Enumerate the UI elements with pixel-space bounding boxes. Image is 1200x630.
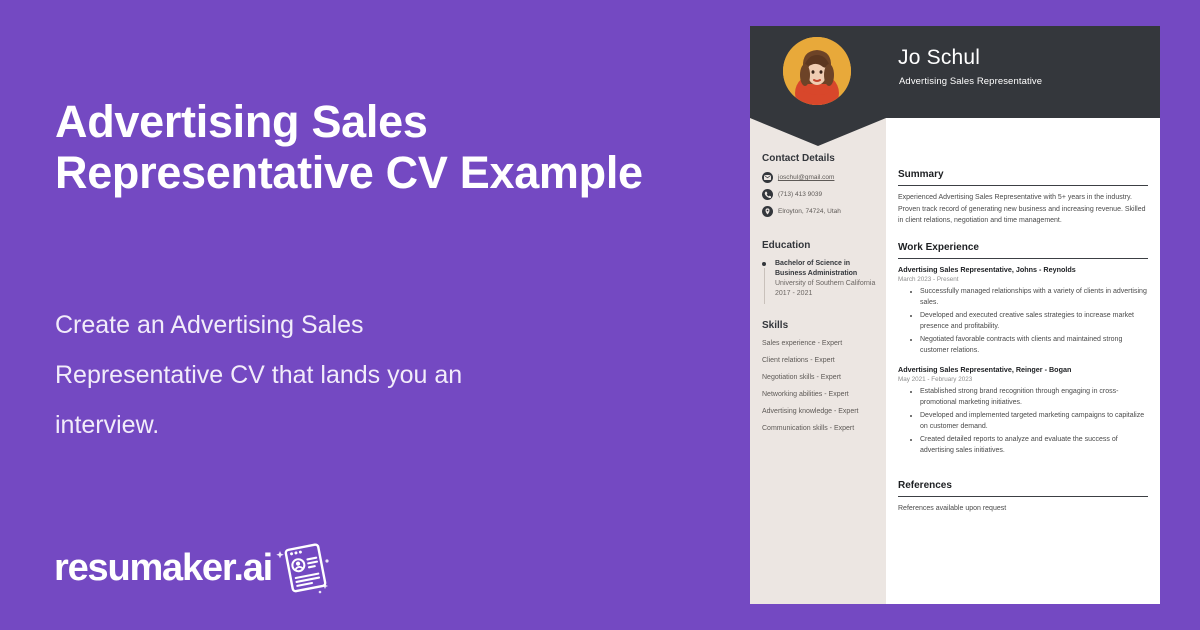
education-school: University of Southern California xyxy=(775,279,880,289)
contact-item-email[interactable]: joschul@gmail.com xyxy=(762,172,880,183)
skill-item: Communication skills - Expert xyxy=(762,424,880,434)
contact-location-text: Elroyton, 74724, Utah xyxy=(778,207,841,216)
timeline-line xyxy=(764,268,765,304)
job-date: May 2021 - February 2023 xyxy=(898,375,1148,384)
summary-heading: Summary xyxy=(898,168,1148,186)
job-bullet: Negotiated favorable contracts with clie… xyxy=(920,334,1148,357)
contact-details-heading: Contact Details xyxy=(762,152,880,165)
skill-item: Networking abilities - Expert xyxy=(762,390,880,400)
resume-card-icon xyxy=(275,541,331,595)
resumaker-logo[interactable]: resumaker.ai xyxy=(54,544,331,592)
promo-canvas: Advertising Sales Representative CV Exam… xyxy=(0,0,1200,630)
references-text: References available upon request xyxy=(898,503,1148,514)
spacer xyxy=(762,223,880,239)
cv-candidate-name: Jo Schul xyxy=(898,46,980,70)
education-heading: Education xyxy=(762,239,880,252)
bullet-dot-icon xyxy=(762,262,766,266)
skill-item: Advertising knowledge - Expert xyxy=(762,407,880,417)
contact-item-phone[interactable]: (713) 413 9039 xyxy=(762,189,880,200)
job-bullet: Developed and implemented targeted marke… xyxy=(920,410,1148,433)
cv-sidebar-content: Contact Details joschul@gmail.com (713) … xyxy=(762,152,880,441)
summary-text: Experienced Advertising Sales Representa… xyxy=(898,192,1148,227)
promo-panel: Advertising Sales Representative CV Exam… xyxy=(0,0,750,630)
job-bullet: Created detailed reports to analyze and … xyxy=(920,434,1148,457)
contact-email-text: joschul@gmail.com xyxy=(778,173,834,182)
work-experience-heading: Work Experience xyxy=(898,241,1148,259)
education-years: 2017 - 2021 xyxy=(775,289,880,299)
spacer xyxy=(898,465,1148,479)
job-bullet: Established strong brand recognition thr… xyxy=(920,386,1148,409)
work-experience-entry: Advertising Sales Representative, Johns … xyxy=(898,265,1148,357)
contact-item-location[interactable]: Elroyton, 74724, Utah xyxy=(762,206,880,217)
logo-wordmark: resumaker.ai xyxy=(54,548,272,588)
spacer xyxy=(898,227,1148,241)
job-title: Advertising Sales Representative, Reinge… xyxy=(898,365,1148,375)
job-title: Advertising Sales Representative, Johns … xyxy=(898,265,1148,275)
page-title: Advertising Sales Representative CV Exam… xyxy=(55,96,715,198)
skills-heading: Skills xyxy=(762,319,880,332)
spacer xyxy=(762,303,880,319)
skill-item: Client relations - Expert xyxy=(762,356,880,366)
job-bullet: Developed and executed creative sales st… xyxy=(920,310,1148,333)
references-heading: References xyxy=(898,479,1148,497)
skill-item: Sales experience - Expert xyxy=(762,339,880,349)
cv-candidate-role: Advertising Sales Representative xyxy=(899,76,1042,88)
education-degree: Bachelor of Science in Business Administ… xyxy=(775,259,880,279)
education-item: Bachelor of Science in Business Administ… xyxy=(762,259,880,299)
work-experience-entry: Advertising Sales Representative, Reinge… xyxy=(898,365,1148,457)
location-pin-icon xyxy=(762,206,773,217)
job-bullet-list: Established strong brand recognition thr… xyxy=(898,386,1148,457)
job-bullet: Successfully managed relationships with … xyxy=(920,286,1148,309)
cv-main-content: Summary Experienced Advertising Sales Re… xyxy=(898,168,1148,514)
page-subtitle: Create an Advertising Sales Representati… xyxy=(55,300,475,450)
cv-document[interactable]: Jo Schul Advertising Sales Representativ… xyxy=(750,26,1160,604)
envelope-icon xyxy=(762,172,773,183)
skill-item: Negotiation skills - Expert xyxy=(762,373,880,383)
phone-icon xyxy=(762,189,773,200)
contact-phone-text: (713) 413 9039 xyxy=(778,190,822,199)
job-date: March 2023 - Present xyxy=(898,275,1148,284)
avatar xyxy=(783,37,851,105)
job-bullet-list: Successfully managed relationships with … xyxy=(898,286,1148,357)
